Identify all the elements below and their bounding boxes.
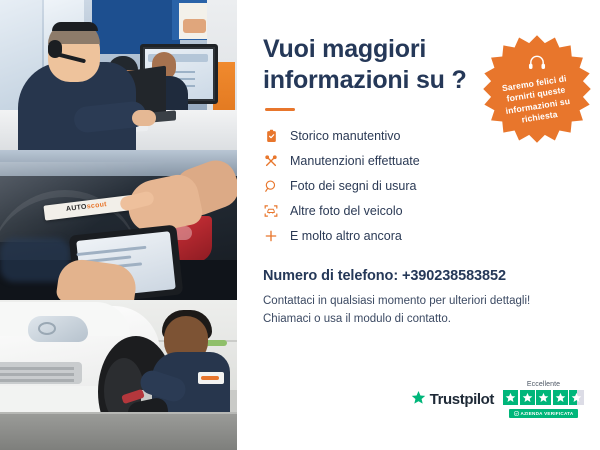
list-item: Manutenzioni effettuate <box>263 148 578 173</box>
list-item-label: Storico manutentivo <box>290 129 400 143</box>
car-sticker-tablet-inspection-photo: AUTOscout <box>0 150 237 300</box>
page-title: Vuoi maggiori informazioni su ? <box>263 34 483 95</box>
star-icon <box>503 390 518 405</box>
clipboard-check-icon <box>263 129 279 143</box>
title-divider <box>265 108 295 111</box>
content-panel: Vuoi maggiori informazioni su ? Storico … <box>237 0 600 450</box>
mechanic-wheel-check-photo <box>0 300 237 450</box>
list-item: Foto dei segni di usura <box>263 173 578 198</box>
status-badge: AZIENDA VERIFICATA <box>509 409 579 418</box>
rating-label: Eccellente <box>527 381 560 388</box>
star-rating <box>503 390 584 405</box>
trustpilot-logo: Trustpilot <box>411 390 494 410</box>
star-icon <box>536 390 551 405</box>
star-icon <box>411 390 426 410</box>
magnifier-icon <box>263 179 279 193</box>
headset-icon <box>527 54 547 76</box>
wrench-screwdriver-icon <box>263 154 279 168</box>
trustpilot-rating[interactable]: Trustpilot Eccellente AZIENDA VERIFICATA <box>411 381 584 418</box>
phone-number: Numero di telefono: +390238583852 <box>263 268 578 284</box>
badge-text: Saremo felici di fornirti queste informa… <box>490 72 584 131</box>
list-item-label: Foto dei segni di usura <box>290 179 416 193</box>
check-circle-icon <box>514 411 519 416</box>
verified-label: AZIENDA VERIFICATA <box>521 411 574 416</box>
star-icon <box>553 390 568 405</box>
photo-column: AUTOscout <box>0 0 237 450</box>
trustpilot-brand: Trustpilot <box>430 391 494 408</box>
list-item-label: E molto altro ancora <box>290 229 402 243</box>
list-item: E molto altro ancora <box>263 223 578 248</box>
star-icon <box>520 390 535 405</box>
star-icon-half <box>569 390 584 405</box>
callout-badge: Saremo felici di fornirti queste informa… <box>481 33 593 145</box>
list-item: Altre foto del veicolo <box>263 198 578 223</box>
rating-block: Eccellente AZIENDA VERIFICATA <box>503 381 584 418</box>
description-line-1: Contattaci in qualsiasi momento per ulte… <box>263 293 578 311</box>
list-item-label: Manutenzioni effettuate <box>290 154 420 168</box>
call-center-advisor-headset-photo <box>0 0 237 150</box>
plus-icon <box>263 229 279 243</box>
description-line-2: Chiamaci o usa il modulo di contatto. <box>263 311 578 329</box>
description-text: Contattaci in qualsiasi momento per ulte… <box>263 293 578 329</box>
list-item-label: Altre foto del veicolo <box>290 204 403 218</box>
vehicle-info-ad-card: AUTOscout <box>0 0 600 450</box>
car-scan-frame-icon <box>263 204 279 218</box>
